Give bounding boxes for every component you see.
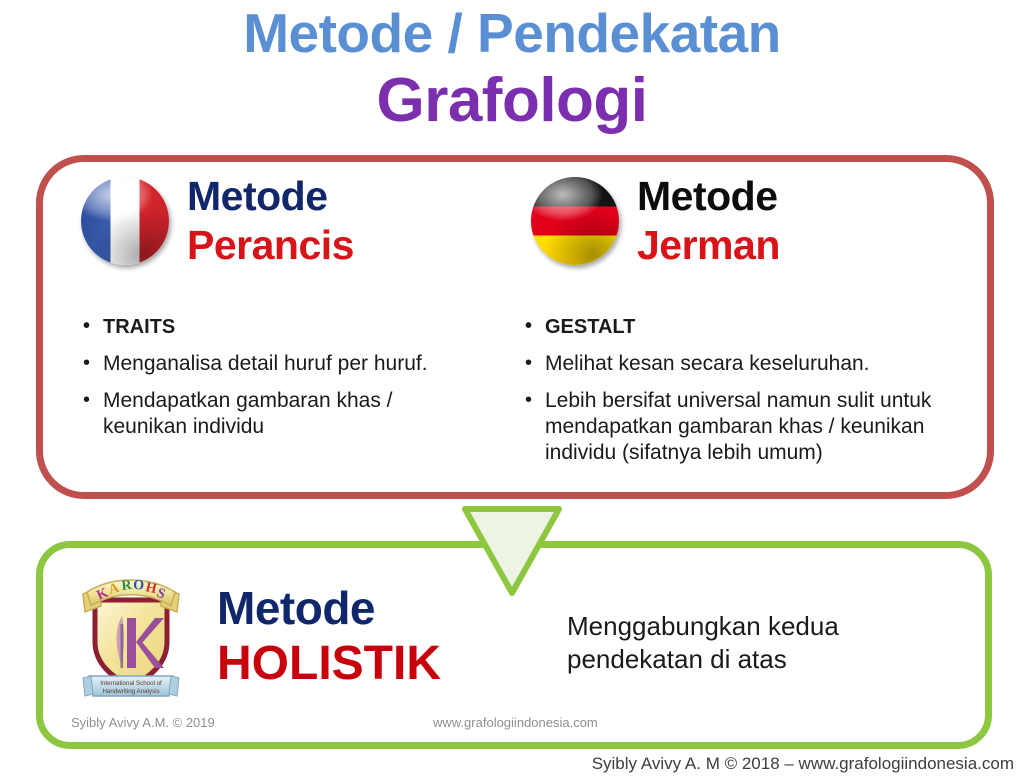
- germany-bullet-list: GESTALT Melihat kesan secara keseluruhan…: [523, 314, 983, 477]
- holistic-heading-text: Metode HOLISTIK: [217, 585, 441, 688]
- svg-text:O: O: [133, 578, 145, 594]
- method-column-france: Metode Perancis: [73, 162, 523, 280]
- list-item: GESTALT: [523, 314, 983, 340]
- holistic-heading-row: K A R O H S International School of Hand…: [65, 572, 441, 700]
- list-item: Melihat kesan secara keseluruhan.: [523, 351, 983, 377]
- list-item: Menganalisa detail huruf per huruf.: [81, 351, 481, 377]
- flag-gloss-overlay: [531, 177, 619, 265]
- inner-footer-credit: Syibly Avivy A.M. © 2019: [71, 715, 215, 730]
- list-item: Mendapatkan gambaran khas / keunikan ind…: [81, 388, 481, 440]
- germany-heading-bottom: Jerman: [637, 225, 780, 266]
- inner-footer-website: www.grafologiindonesia.com: [433, 715, 598, 730]
- holistic-heading-bottom: HOLISTIK: [217, 640, 441, 688]
- germany-flag-icon: [531, 177, 619, 265]
- title-line-2: Grafologi: [0, 68, 1024, 134]
- france-heading-bottom: Perancis: [187, 225, 354, 266]
- france-heading-top: Metode: [187, 176, 354, 217]
- germany-heading-row: Metode Jerman: [517, 162, 987, 280]
- ribbon-line-1: International School of: [100, 680, 162, 687]
- flag-gloss-overlay: [81, 177, 169, 265]
- method-column-germany: Metode Jerman: [517, 162, 987, 280]
- france-bullet-list: TRAITS Menganalisa detail huruf per huru…: [81, 314, 481, 451]
- methods-comparison-panel: Metode Perancis Metode Jerman TRAITS Men…: [36, 155, 994, 499]
- karohs-shield-logo: K A R O H S International School of Hand…: [65, 572, 197, 700]
- page-title: Metode / Pendekatan Grafologi: [0, 0, 1024, 134]
- ribbon-line-2: Handwriting Analysis: [102, 688, 159, 695]
- holistic-heading-top: Metode: [217, 585, 441, 631]
- holistic-description: Menggabungkan kedua pendekatan di atas: [567, 610, 967, 676]
- list-item: TRAITS: [81, 314, 481, 340]
- france-heading-text: Metode Perancis: [187, 176, 354, 266]
- list-item: Lebih bersifat universal namun sulit unt…: [523, 388, 983, 466]
- slide-footer-credit: Syibly Avivy A. M © 2018 – www.grafologi…: [592, 754, 1014, 774]
- germany-heading-top: Metode: [637, 176, 780, 217]
- france-flag-icon: [81, 177, 169, 265]
- france-heading-row: Metode Perancis: [73, 162, 523, 280]
- germany-heading-text: Metode Jerman: [637, 176, 780, 266]
- title-line-1: Metode / Pendekatan: [0, 0, 1024, 66]
